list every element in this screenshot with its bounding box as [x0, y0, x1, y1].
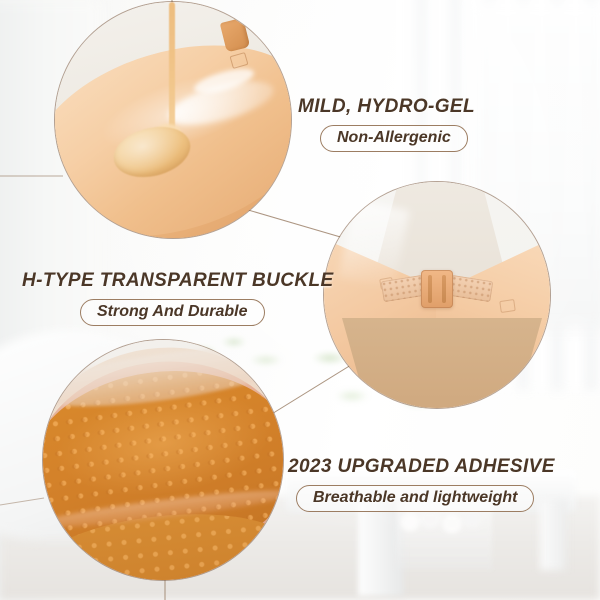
- feature-hydrogel-badge: Non-Allergenic: [320, 125, 468, 152]
- adhesive-texture-photo: [43, 340, 283, 580]
- feature-hydrogel-headline: MILD, HYDRO-GEL: [298, 96, 475, 118]
- feature-buckle-headline: H-TYPE TRANSPARENT BUCKLE: [22, 270, 334, 292]
- feature-adhesive-text: 2023 UPGRADED ADHESIVE Breathable and li…: [288, 456, 555, 512]
- h-type-buckle-photo: [324, 182, 550, 408]
- feature-hydrogel-badge-wrap: Non-Allergenic: [320, 125, 475, 152]
- gel-stream: [169, 2, 175, 138]
- connector-adhesive-left-stub: [0, 498, 44, 505]
- h-buckle-bar: [428, 275, 432, 303]
- product-feature-infographic: MILD, HYDRO-GEL Non-Allergenic H-TYPE TR…: [0, 0, 600, 600]
- feature-hydrogel-text: MILD, HYDRO-GEL Non-Allergenic: [298, 96, 475, 152]
- right-pad-emboss-mark: [499, 299, 516, 313]
- h-buckle-clasp: [421, 270, 453, 308]
- feature-buckle-badge-wrap: Strong And Durable: [80, 299, 334, 326]
- feature-adhesive-headline: 2023 UPGRADED ADHESIVE: [288, 456, 555, 478]
- feature-adhesive-badge-wrap: Breathable and lightweight: [296, 485, 555, 512]
- feature-buckle-text: H-TYPE TRANSPARENT BUCKLE Strong And Dur…: [22, 270, 334, 326]
- feature-adhesive-badge: Breathable and lightweight: [296, 485, 534, 512]
- gel-pouring-on-pad-photo: [55, 2, 291, 238]
- lower-pad-underside: [342, 318, 542, 408]
- feature-buckle-badge: Strong And Durable: [80, 299, 265, 326]
- h-buckle-bar: [442, 275, 446, 303]
